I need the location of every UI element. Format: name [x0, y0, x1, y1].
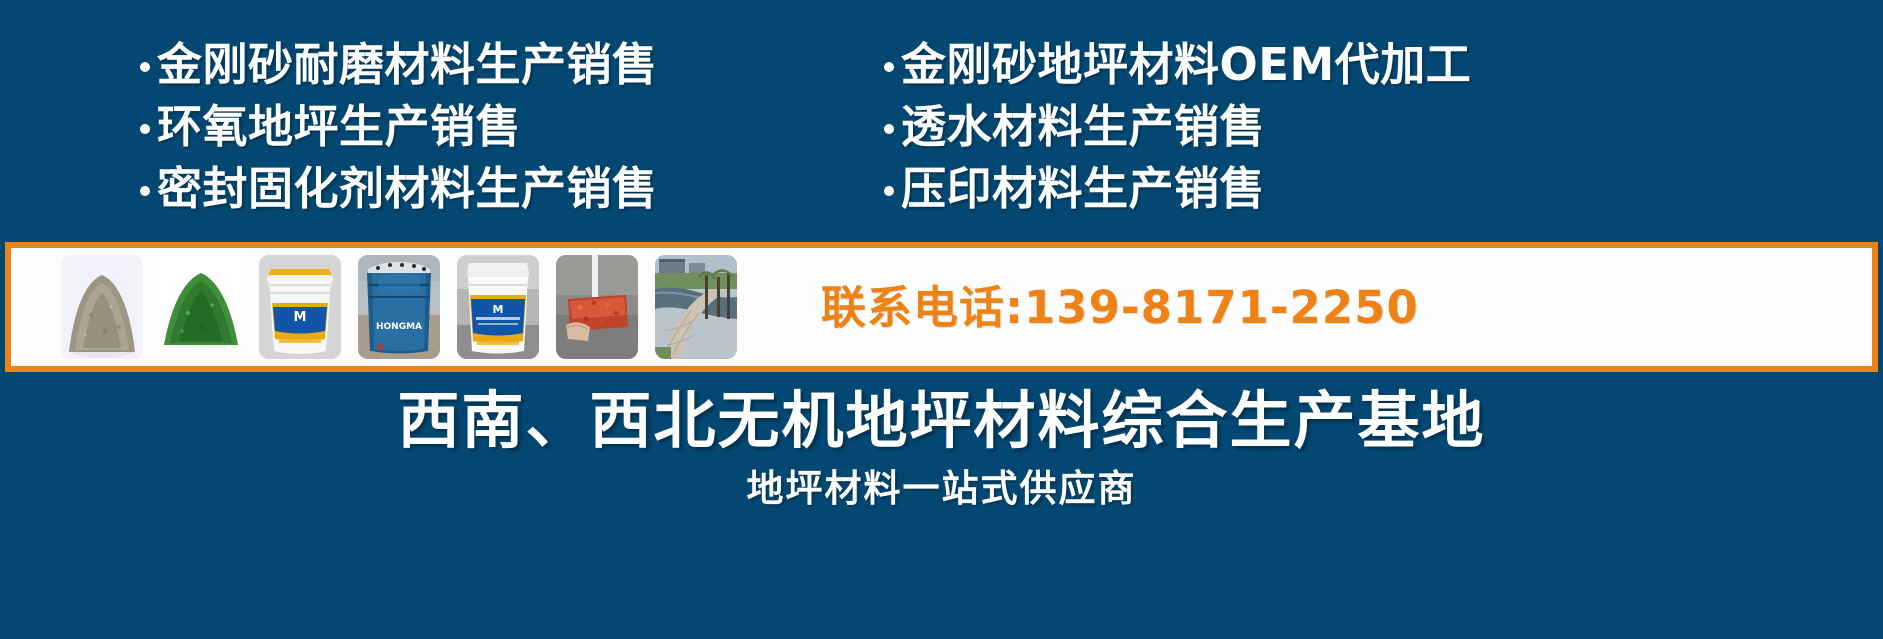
services-bullet-lists: 金刚砂耐磨材料生产销售 环氧地坪生产销售 密封固化剂材料生产销售 金刚砂地坪材料… [0, 34, 1883, 224]
service-item: 金刚砂耐磨材料生产销售 [140, 34, 870, 96]
service-item: 金刚砂地坪材料OEM代加工 [884, 34, 1883, 96]
contact-phone[interactable]: 联系电话:139-8171-2250 [821, 285, 1419, 330]
product-thumbnail-list: M [11, 255, 737, 359]
white-bucket-sealer-photo: M [259, 255, 341, 359]
bullet-dot-icon [140, 124, 150, 134]
service-item: 压印材料生产销售 [884, 158, 1883, 220]
bullet-dot-icon [884, 186, 894, 196]
epoxy-paint-bucket-photo: M [457, 255, 539, 359]
stamped-concrete-path-photo [655, 255, 737, 359]
promotional-banner: 金刚砂耐磨材料生产销售 环氧地坪生产销售 密封固化剂材料生产销售 金刚砂地坪材料… [0, 0, 1883, 639]
red-permeable-aggregate-photo [556, 255, 638, 359]
service-label: 金刚砂地坪材料OEM代加工 [901, 34, 1471, 96]
svg-text:HONGMA: HONGMA [376, 322, 422, 332]
svg-text:M: M [294, 310, 307, 325]
green-powder-photo [160, 255, 242, 359]
bullet-dot-icon [884, 62, 894, 72]
svg-text:M: M [493, 303, 504, 316]
service-item: 透水材料生产销售 [884, 96, 1883, 158]
service-label: 透水材料生产销售 [901, 96, 1265, 158]
service-item: 密封固化剂材料生产销售 [140, 158, 870, 220]
bullet-dot-icon [140, 62, 150, 72]
bullet-dot-icon [884, 124, 894, 134]
service-label: 压印材料生产销售 [901, 158, 1265, 220]
service-item: 环氧地坪生产销售 [140, 96, 870, 158]
blue-drum-photo: HONGMA [358, 255, 440, 359]
bullet-dot-icon [140, 186, 150, 196]
services-right-column: 金刚砂地坪材料OEM代加工 透水材料生产销售 压印材料生产销售 [870, 34, 1883, 224]
services-left-column: 金刚砂耐磨材料生产销售 环氧地坪生产销售 密封固化剂材料生产销售 [0, 34, 870, 224]
service-label: 环氧地坪生产销售 [157, 96, 521, 158]
product-strip: M [5, 242, 1878, 372]
gray-abrasive-powder-photo [61, 255, 143, 359]
subheadline: 地坪材料一站式供应商 [0, 466, 1883, 512]
service-label: 金刚砂耐磨材料生产销售 [157, 34, 658, 96]
service-label: 密封固化剂材料生产销售 [157, 158, 658, 220]
headline: 西南、西北无机地坪材料综合生产基地 [0, 385, 1883, 457]
